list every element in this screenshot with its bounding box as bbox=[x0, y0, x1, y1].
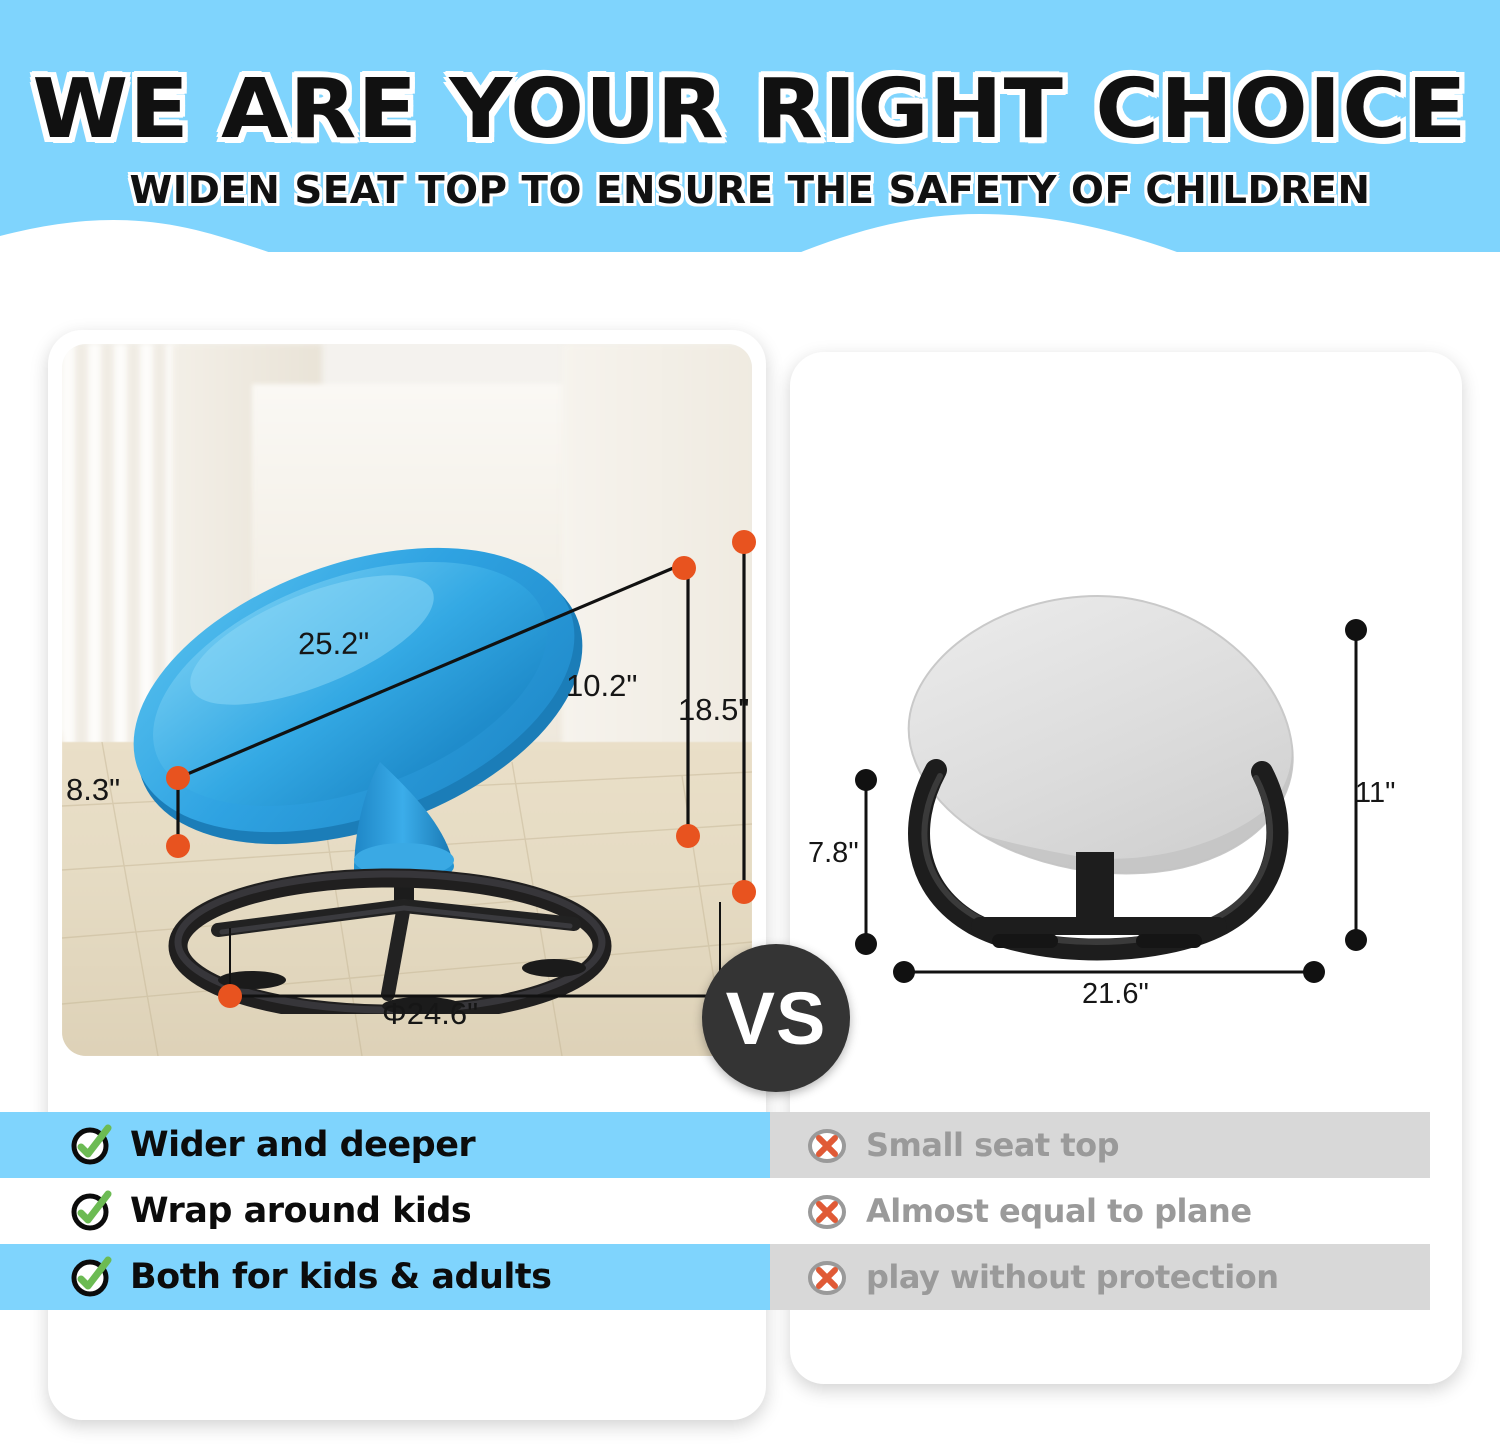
dim-label-seat-depth: 10.2" bbox=[566, 668, 637, 704]
feature-row: Wider and deeper Small seat top bbox=[0, 1112, 1500, 1178]
blue-swivel-chair-graphic bbox=[122, 494, 642, 1014]
pro-feature-label: Both for kids & adults bbox=[130, 1257, 551, 1297]
vs-badge-label: VS bbox=[726, 976, 827, 1061]
check-circle-icon bbox=[68, 1254, 114, 1300]
pro-feature-cell: Wider and deeper bbox=[0, 1112, 770, 1178]
dim-label-overall-height-left: 18.5" bbox=[678, 692, 749, 728]
left-product-photo bbox=[62, 344, 752, 1056]
dim-label-overall-height-right: 11" bbox=[1355, 777, 1395, 810]
dim-label-seat-lip-height: 8.3" bbox=[66, 772, 120, 808]
cross-circle-icon bbox=[804, 1254, 850, 1300]
check-circle-icon bbox=[68, 1188, 114, 1234]
vs-badge: VS bbox=[702, 944, 850, 1092]
wave-divider-decoration bbox=[0, 200, 1500, 330]
cross-circle-icon bbox=[804, 1188, 850, 1234]
con-feature-label: Almost equal to plane bbox=[866, 1192, 1252, 1230]
pro-feature-label: Wider and deeper bbox=[130, 1125, 475, 1165]
feature-row: Wrap around kids Almost equal to plane bbox=[0, 1178, 1500, 1244]
dim-label-seat-height-right: 7.8" bbox=[808, 837, 859, 870]
dim-label-base-diameter: Φ24.6" bbox=[382, 996, 478, 1032]
pro-feature-cell: Wrap around kids bbox=[0, 1178, 770, 1244]
con-feature-cell: Small seat top bbox=[770, 1112, 1430, 1178]
feature-row: Both for kids & adults play without prot… bbox=[0, 1244, 1500, 1310]
con-feature-label: Small seat top bbox=[866, 1126, 1119, 1164]
dim-label-seat-diameter-diagonal: 25.2" bbox=[298, 626, 370, 663]
grey-swivel-chair-graphic bbox=[840, 590, 1360, 970]
con-feature-cell: play without protection bbox=[770, 1244, 1430, 1310]
comparison-feature-table: Wider and deeper Small seat top Wrap aro… bbox=[0, 1112, 1500, 1310]
con-feature-label: play without protection bbox=[866, 1258, 1278, 1296]
page-headline: WE ARE YOUR RIGHT CHOICE bbox=[0, 62, 1500, 157]
dim-label-base-width-right: 21.6" bbox=[1082, 978, 1149, 1011]
pro-feature-cell: Both for kids & adults bbox=[0, 1244, 770, 1310]
cross-circle-icon bbox=[804, 1122, 850, 1168]
pro-feature-label: Wrap around kids bbox=[130, 1191, 471, 1231]
check-circle-icon bbox=[68, 1122, 114, 1168]
con-feature-cell: Almost equal to plane bbox=[770, 1178, 1430, 1244]
